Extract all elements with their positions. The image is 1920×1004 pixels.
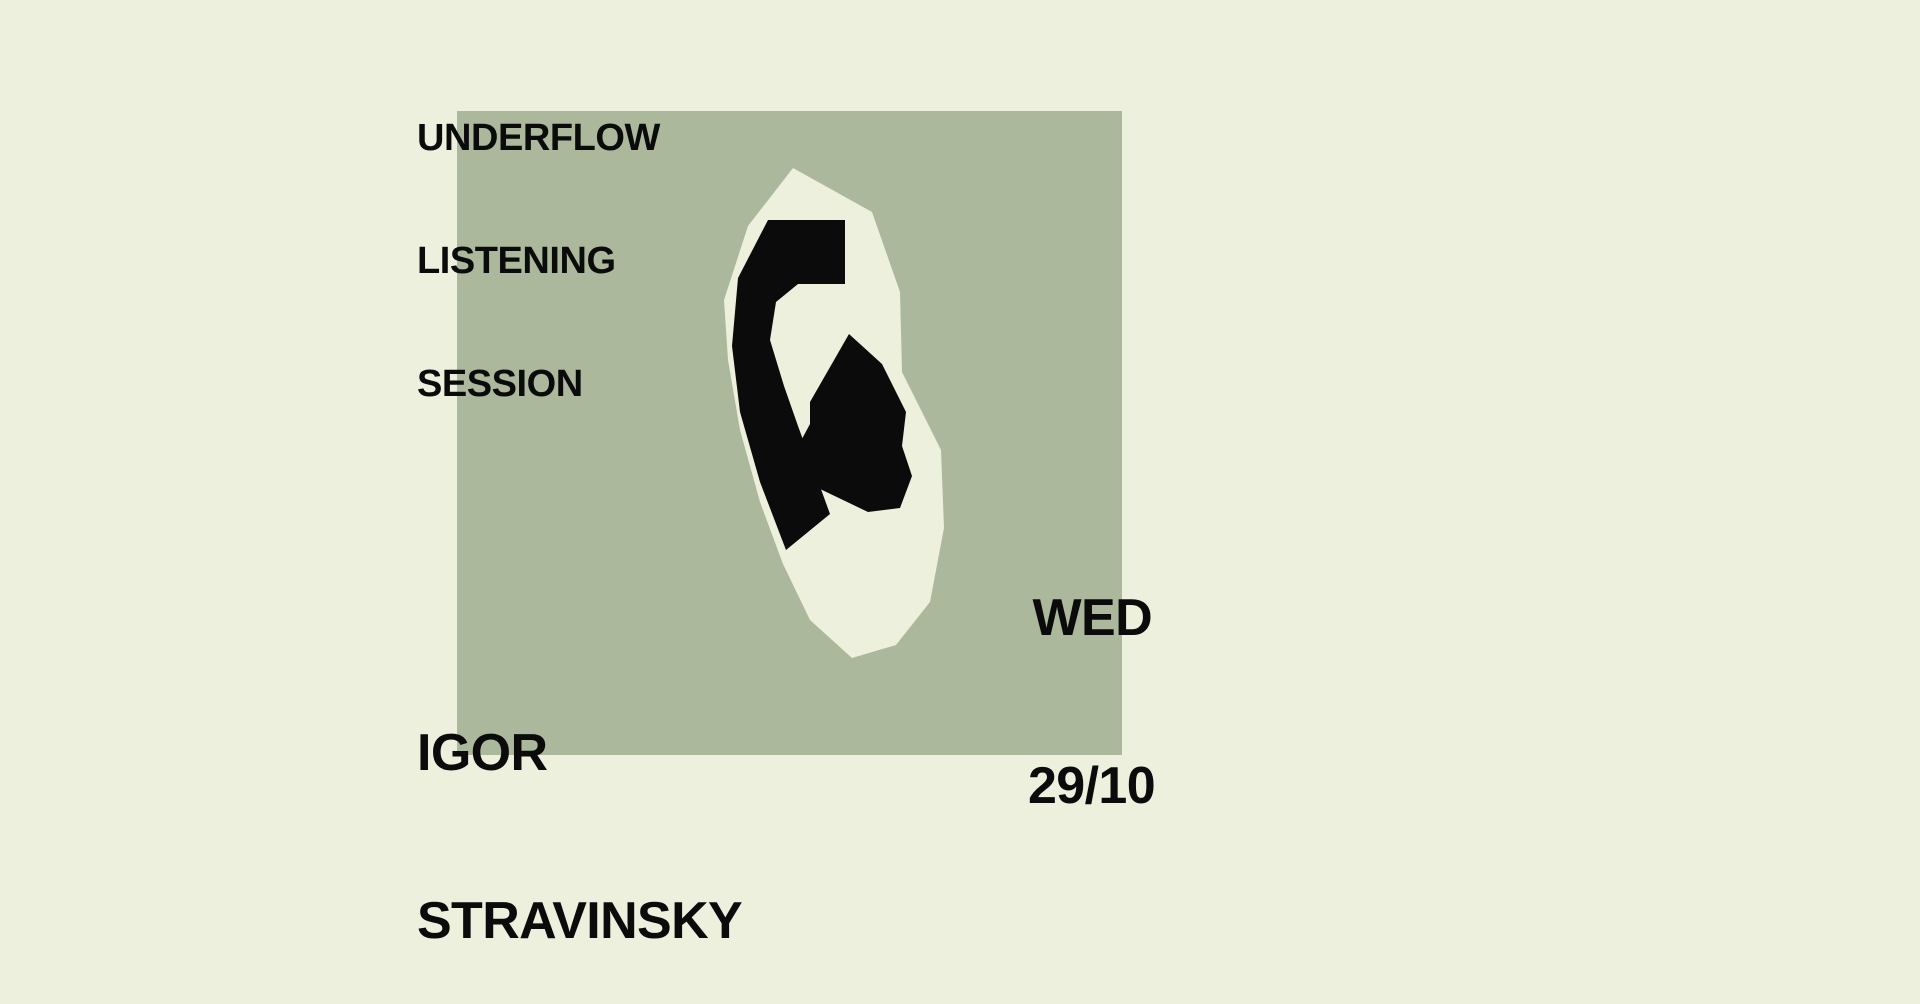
event-title-line-1: UNDERFLOW (417, 118, 660, 159)
artist-name-line-1: IGOR (417, 725, 742, 781)
event-title: UNDERFLOW LISTENING SESSION (417, 36, 660, 487)
artist-name: IGOR STRAVINSKY (417, 613, 742, 1004)
artist-name-line-2: STRAVINSKY (417, 893, 742, 949)
event-date-weekday: WED (1028, 590, 1152, 646)
event-title-line-2: LISTENING (417, 241, 660, 282)
event-date: WED 29/10 (1028, 478, 1152, 926)
event-title-line-3: SESSION (417, 364, 660, 405)
poster-canvas: UNDERFLOW LISTENING SESSION IGOR STRAVIN… (0, 0, 1920, 1004)
event-date-day-month: 29/10 (1028, 758, 1152, 814)
